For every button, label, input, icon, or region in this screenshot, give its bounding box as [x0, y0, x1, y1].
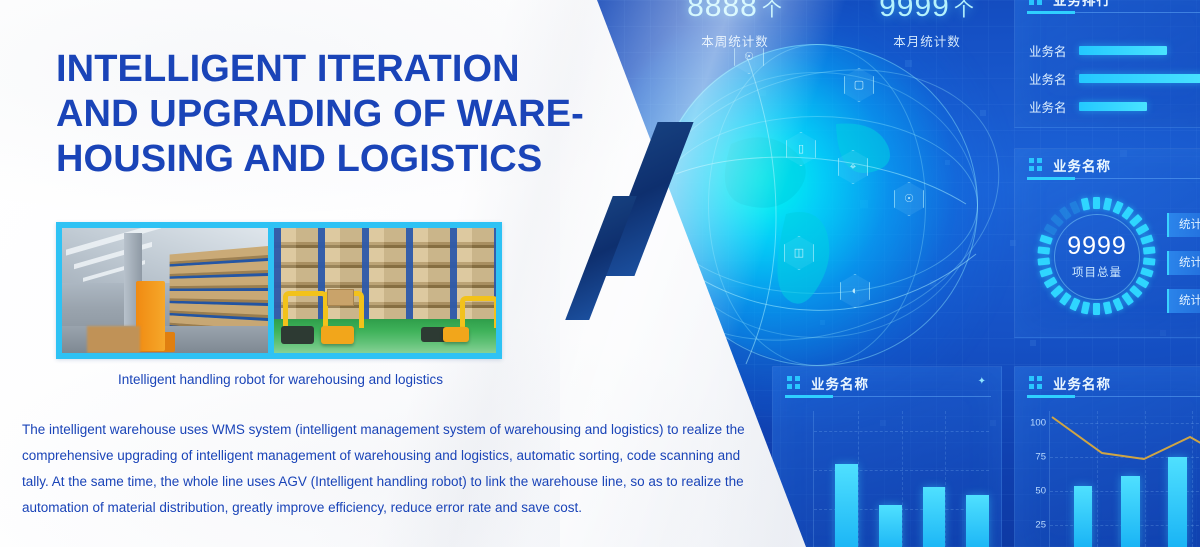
agv-robot-photo [274, 228, 496, 353]
bar [923, 487, 946, 547]
stat-week: 8888个 本周统计数 [660, 0, 810, 50]
gauge-card[interactable]: 业务名称 9999 项目总量 统计人数 统计人数 统计人数 [1014, 148, 1200, 338]
gauge-tick [1102, 301, 1111, 314]
bar-chart-card-title: 业务名称 [811, 373, 869, 393]
bar [966, 495, 989, 547]
combo-chart-card-header: 业务名称 [1015, 367, 1200, 397]
page-title: INTELLIGENT ITERATION AND UPGRADING OF W… [56, 47, 596, 181]
gauge-tick [1112, 298, 1123, 312]
gauge-tick [1135, 223, 1149, 235]
ranking-row-label: 业务名 [1029, 69, 1067, 88]
bar-chart [787, 411, 989, 547]
sparkle-icon: ✦ [978, 376, 987, 387]
gauge-tick [1039, 267, 1053, 277]
gauge-tick [1069, 298, 1080, 312]
y-tick-label: 25 [1035, 520, 1046, 531]
ranking-row-bar [1079, 46, 1167, 55]
gauge-card-header: 业务名称 [1015, 149, 1200, 179]
gauge-tick [1039, 234, 1053, 244]
body-paragraph: The intelligent warehouse uses WMS syste… [22, 417, 762, 521]
y-tick-label: 100 [1030, 418, 1046, 429]
stat-month-value: 9999 [879, 0, 950, 23]
gauge-tick [1093, 303, 1100, 315]
ranking-row-bar [1079, 74, 1200, 83]
gauge-label: 项目总量 [1072, 264, 1122, 280]
stat-pill-button[interactable]: 统计人数 [1167, 251, 1200, 275]
grid-dots-icon [1029, 158, 1042, 171]
y-tick-label: 75 [1035, 452, 1046, 463]
gauge-tick [1142, 257, 1155, 265]
gauge-tick [1037, 257, 1050, 265]
ranking-row-label: 业务名 [1029, 97, 1067, 116]
gauge-tick [1093, 197, 1100, 209]
combo-chart: 100 75 50 25 [1023, 411, 1200, 547]
stat-pill-button[interactable]: 统计人数 [1167, 289, 1200, 313]
bar [835, 464, 858, 547]
ranking-row[interactable]: 业务名 [1029, 97, 1147, 116]
stat-month-label: 本月统计数 [852, 31, 1002, 50]
grid-dots-icon [787, 376, 800, 389]
gauge-value: 9999 [1067, 234, 1127, 259]
gauge-tick [1142, 246, 1155, 254]
page-title-line-3: HOUSING AND LOGISTICS [56, 137, 596, 182]
gauge-tick [1069, 201, 1080, 215]
page-title-line-2: AND UPGRADING OF WARE- [56, 92, 596, 137]
gauge-tick [1121, 292, 1134, 306]
ranking-row-bar [1079, 102, 1147, 111]
bar [879, 505, 902, 547]
gauge-tick [1140, 267, 1154, 277]
stat-week-unit: 个 [762, 0, 783, 21]
ranking-card-title: 业务排行 [1053, 0, 1111, 9]
gauge-tick [1129, 214, 1143, 227]
gauge-tick [1080, 198, 1089, 211]
combo-chart-card-title: 业务名称 [1053, 373, 1111, 393]
grid-dots-icon [1029, 376, 1042, 389]
project-total-gauge: 9999 项目总量 [1037, 197, 1155, 315]
bar-chart-card[interactable]: 业务名称 ✦ [772, 366, 1002, 547]
stat-month-unit: 个 [954, 0, 975, 21]
gauge-tick [1037, 246, 1050, 254]
stat-pill-button[interactable]: 统计人数 [1167, 213, 1200, 237]
stat-month: 9999个 本月统计数 [852, 0, 1002, 50]
gauge-tick [1140, 234, 1154, 244]
ranking-row-label: 业务名 [1029, 41, 1067, 60]
ranking-card[interactable]: 业务排行 业务名 业务名 业务名 [1014, 0, 1200, 128]
page-title-line-1: INTELLIGENT ITERATION [56, 47, 596, 92]
warehouse-aisle-photo [62, 228, 268, 353]
ranking-row[interactable]: 业务名 [1029, 69, 1200, 88]
combo-chart-card[interactable]: 业务名称 100 75 50 25 [1014, 366, 1200, 547]
gauge-tick [1102, 198, 1111, 211]
banner-stage: ☉ ▢ ⌖ ▯ ☉ ◫ ◐ 8888个 本周统计数 9999个 本月统计数 业务… [0, 0, 1200, 547]
bar-chart-card-header: 业务名称 ✦ [773, 367, 1001, 397]
gauge-tick [1043, 276, 1057, 288]
stat-week-value: 8888 [687, 0, 758, 23]
combo-chart-plot [1049, 411, 1200, 547]
bar-chart-plot [813, 411, 989, 547]
gauge-tick [1058, 292, 1071, 306]
gauge-tick [1080, 301, 1089, 314]
gauge-tick [1050, 214, 1064, 227]
photo-collage-frame [56, 222, 502, 359]
gauge-tick [1135, 276, 1149, 288]
combo-chart-line [1050, 411, 1200, 547]
gauge-tick [1043, 223, 1057, 235]
gauge-card-title: 业务名称 [1053, 155, 1111, 175]
ranking-card-header: 业务排行 [1015, 0, 1200, 13]
stat-week-label: 本周统计数 [660, 31, 810, 50]
grid-dots-icon [1029, 0, 1042, 5]
ranking-row[interactable]: 业务名 [1029, 41, 1167, 60]
combo-chart-y-axis: 100 75 50 25 [1023, 411, 1049, 547]
photo-caption: Intelligent handling robot for warehousi… [118, 372, 443, 387]
gauge-tick [1112, 201, 1123, 215]
y-tick-label: 50 [1035, 486, 1046, 497]
